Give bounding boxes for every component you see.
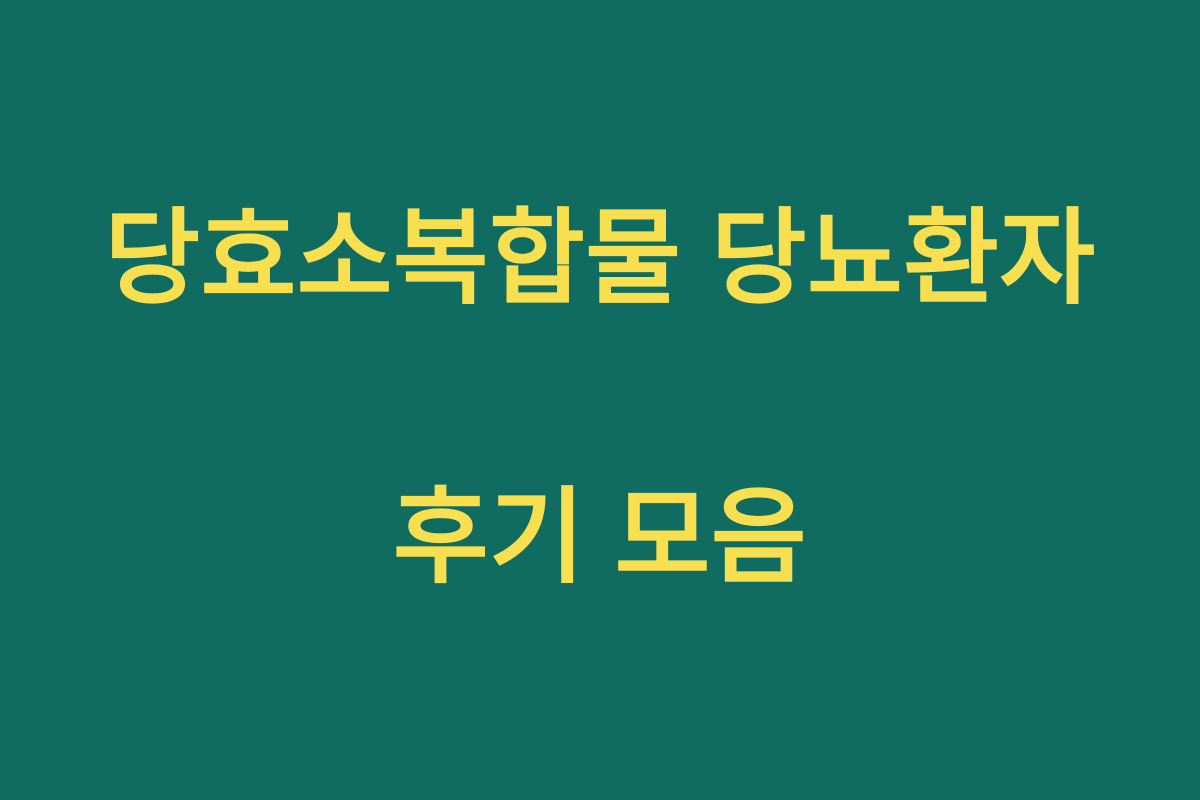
headline-line-1: 당효소복합물 당뇨환자	[104, 190, 1095, 329]
poster-canvas: 당효소복합물 당뇨환자 후기 모음	[0, 0, 1200, 800]
page-title: 당효소복합물 당뇨환자 후기 모음	[64, 51, 1135, 748]
headline-line-2: 후기 모음	[104, 469, 1095, 608]
